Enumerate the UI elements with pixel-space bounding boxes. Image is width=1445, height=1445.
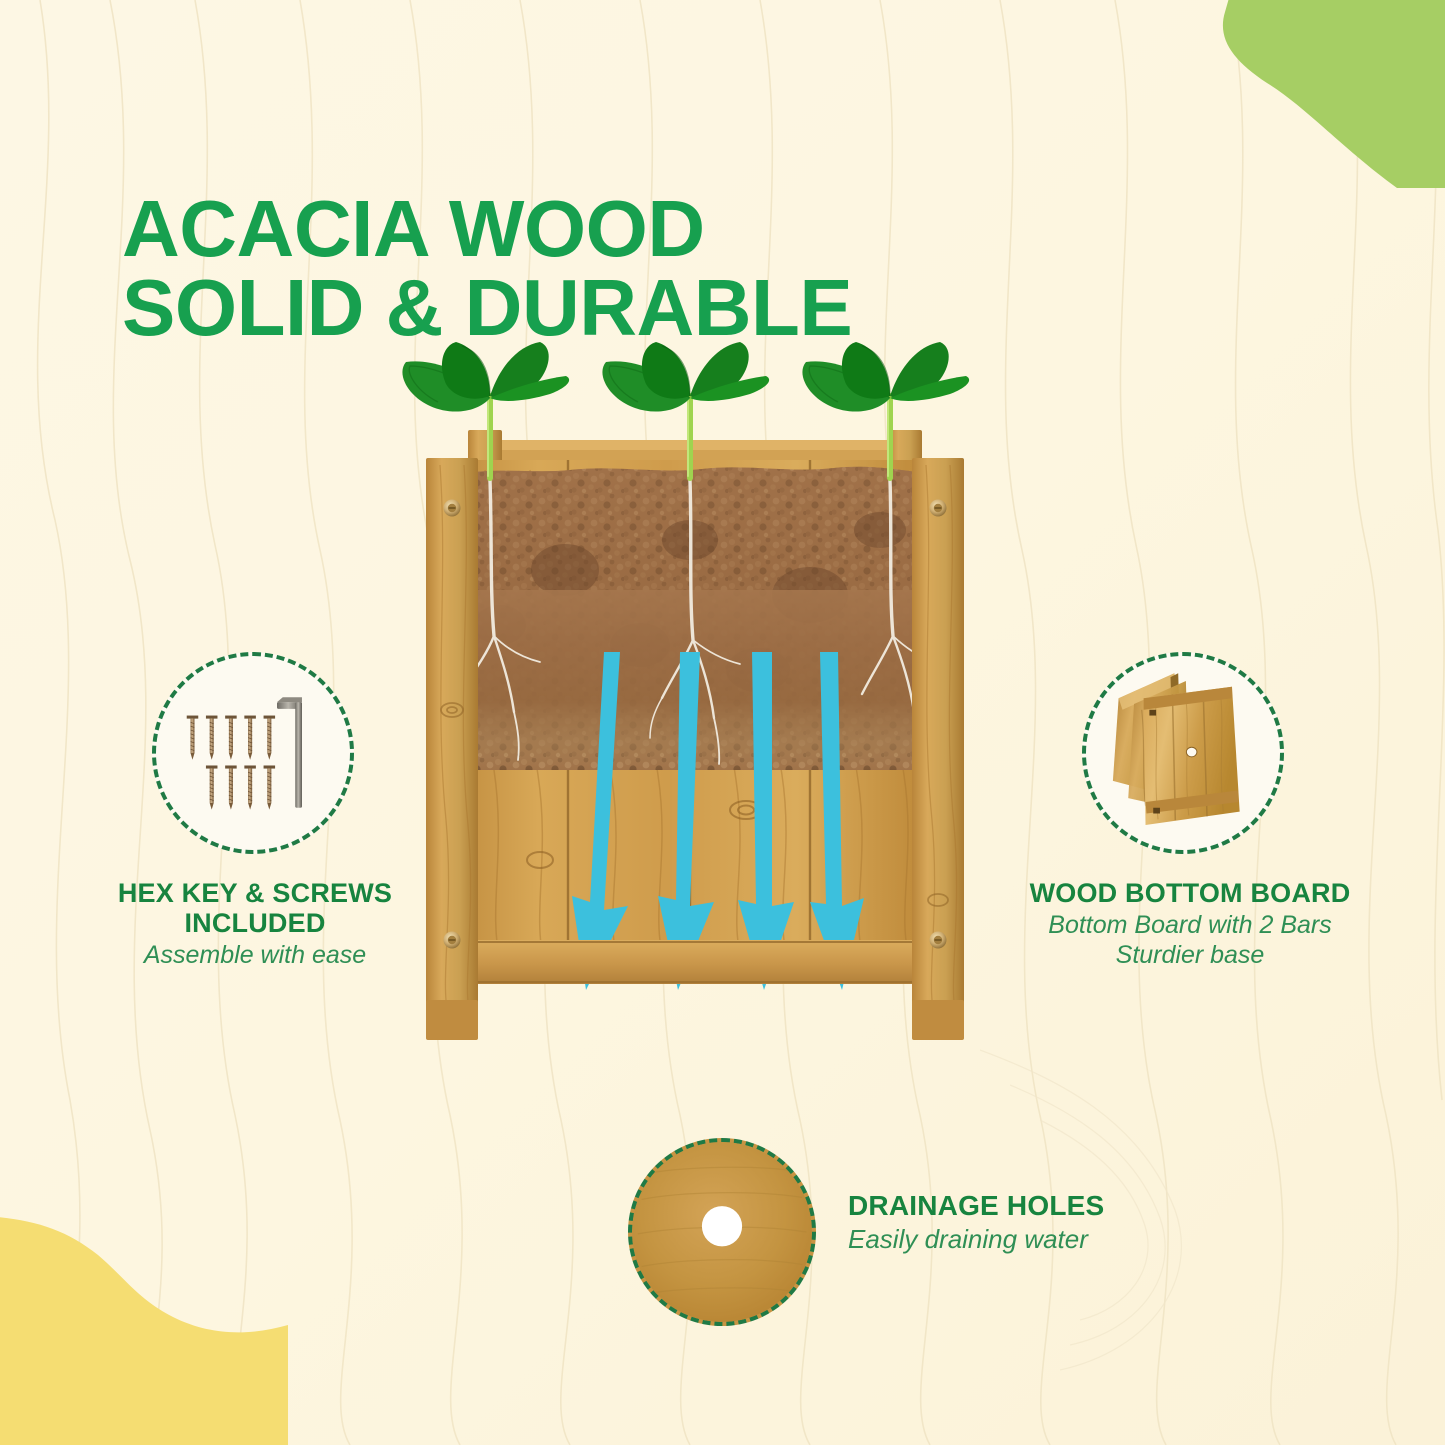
feature-text-drainage-holes: DRAINAGE HOLES Easily draining water bbox=[848, 1190, 1228, 1255]
planter-box-illustration bbox=[390, 340, 1010, 1080]
page-title-line2: SOLID & DURABLE bbox=[122, 269, 852, 347]
drainage-hole bbox=[702, 1206, 742, 1246]
feature-icon-wood-bottom-board bbox=[1082, 652, 1284, 854]
feature-subtitle-wood-bottom-board: Bottom Board with 2 Bars Sturdier base bbox=[990, 911, 1390, 970]
feature-title-wood-bottom-board: WOOD BOTTOM BOARD bbox=[990, 878, 1390, 908]
feature-text-hex-key-screws: HEX KEY & SCREWS INCLUDED Assemble with … bbox=[60, 878, 450, 971]
feature-text-wood-bottom-board: WOOD BOTTOM BOARD Bottom Board with 2 Ba… bbox=[990, 878, 1390, 970]
feature-subtitle-drainage-holes: Easily draining water bbox=[848, 1224, 1228, 1255]
page-title: ACACIA WOOD SOLID & DURABLE bbox=[122, 112, 852, 426]
feature-title-hex-key-screws: HEX KEY & SCREWS INCLUDED bbox=[60, 878, 450, 938]
feature-title-line1: HEX KEY & SCREWS bbox=[118, 878, 392, 908]
feature-title-drainage-holes: DRAINAGE HOLES bbox=[848, 1190, 1228, 1221]
decorative-blob-yellow-bottom-left bbox=[0, 1217, 288, 1445]
decorative-blob-green-top-right bbox=[1147, 0, 1445, 188]
feature-icon-drainage-holes bbox=[628, 1138, 816, 1326]
page-title-line1: ACACIA WOOD bbox=[122, 184, 705, 273]
feature-icon-hex-key-screws bbox=[152, 652, 354, 854]
infographic-canvas: ACACIA WOOD SOLID & DURABLE bbox=[0, 0, 1445, 1445]
feature-title-line2: INCLUDED bbox=[184, 908, 325, 938]
hex-key-icon bbox=[277, 697, 302, 807]
feature-subtitle-hex-key-screws: Assemble with ease bbox=[60, 941, 450, 971]
